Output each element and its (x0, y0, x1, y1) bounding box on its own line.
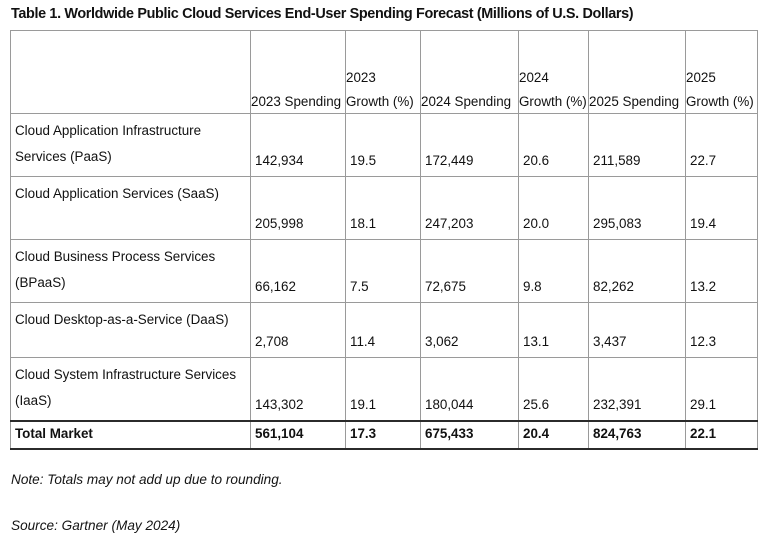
cell-iaas-2024-spending: 180,044 (421, 358, 519, 421)
cell-saas-2025-spending: 295,083 (589, 177, 686, 240)
table-body: Cloud Application Infrastructure Service… (11, 114, 758, 449)
cell-daas-2023-growth: 11.4 (346, 303, 421, 358)
cell-saas-2024-growth: 20.0 (519, 177, 589, 240)
table-row: Cloud System Infrastructure Services (Ia… (11, 358, 758, 421)
cell-bpaas-2024-growth: 9.8 (519, 240, 589, 303)
row-label-daas: Cloud Desktop-as-a-Service (DaaS) (11, 303, 251, 358)
table-footnotes: Note: Totals may not add up due to round… (11, 470, 751, 536)
cell-saas-2024-spending: 247,203 (421, 177, 519, 240)
cell-paas-2023-growth: 19.5 (346, 114, 421, 177)
cell-daas-2025-growth: 12.3 (686, 303, 758, 358)
row-label-iaas: Cloud System Infrastructure Services (Ia… (11, 358, 251, 421)
forecast-table-container: 2023 Spending 2023 Growth (%) 2024 Spend… (10, 30, 757, 450)
cell-paas-2025-spending: 211,589 (589, 114, 686, 177)
column-header-2024-growth: 2024 Growth (%) (519, 31, 589, 114)
forecast-table: 2023 Spending 2023 Growth (%) 2024 Spend… (10, 30, 758, 450)
cell-iaas-2023-growth: 19.1 (346, 358, 421, 421)
cell-bpaas-2024-spending: 72,675 (421, 240, 519, 303)
cell-saas-2025-growth: 19.4 (686, 177, 758, 240)
column-header-2025-spending: 2025 Spending (589, 31, 686, 114)
cell-daas-2023-spending: 2,708 (251, 303, 346, 358)
cell-bpaas-2023-growth: 7.5 (346, 240, 421, 303)
header-row: 2023 Spending 2023 Growth (%) 2024 Spend… (11, 31, 758, 114)
column-header-blank (11, 31, 251, 114)
row-label-paas: Cloud Application Infrastructure Service… (11, 114, 251, 177)
cell-bpaas-2023-spending: 66,162 (251, 240, 346, 303)
cell-daas-2024-growth: 13.1 (519, 303, 589, 358)
table-row: Cloud Business Process Services (BPaaS) … (11, 240, 758, 303)
cell-total-2025-spending: 824,763 (589, 421, 686, 449)
cell-saas-2023-growth: 18.1 (346, 177, 421, 240)
cell-total-2024-growth: 20.4 (519, 421, 589, 449)
cell-iaas-2025-spending: 232,391 (589, 358, 686, 421)
column-header-2024-spending: 2024 Spending (421, 31, 519, 114)
row-label-total-market: Total Market (11, 421, 251, 449)
table-row: Cloud Application Infrastructure Service… (11, 114, 758, 177)
cell-saas-2023-spending: 205,998 (251, 177, 346, 240)
cell-iaas-2025-growth: 29.1 (686, 358, 758, 421)
column-header-2025-growth: 2025 Growth (%) (686, 31, 758, 114)
column-header-2023-spending: 2023 Spending (251, 31, 346, 114)
row-label-bpaas: Cloud Business Process Services (BPaaS) (11, 240, 251, 303)
cell-total-2023-growth: 17.3 (346, 421, 421, 449)
cell-paas-2024-growth: 20.6 (519, 114, 589, 177)
cell-total-2024-spending: 675,433 (421, 421, 519, 449)
cell-total-2023-spending: 561,104 (251, 421, 346, 449)
cell-total-2025-growth: 22.1 (686, 421, 758, 449)
note-text: Note: Totals may not add up due to round… (11, 470, 751, 490)
table-header: 2023 Spending 2023 Growth (%) 2024 Spend… (11, 31, 758, 114)
cell-iaas-2023-spending: 143,302 (251, 358, 346, 421)
page-title: Table 1. Worldwide Public Cloud Services… (11, 3, 761, 25)
cell-daas-2024-spending: 3,062 (421, 303, 519, 358)
cell-daas-2025-spending: 3,437 (589, 303, 686, 358)
table-page: Table 1. Worldwide Public Cloud Services… (0, 0, 768, 557)
cell-bpaas-2025-spending: 82,262 (589, 240, 686, 303)
column-header-2023-growth: 2023 Growth (%) (346, 31, 421, 114)
table-row: Cloud Application Services (SaaS) 205,99… (11, 177, 758, 240)
cell-paas-2024-spending: 172,449 (421, 114, 519, 177)
source-text: Source: Gartner (May 2024) (11, 516, 751, 536)
cell-paas-2025-growth: 22.7 (686, 114, 758, 177)
row-label-saas: Cloud Application Services (SaaS) (11, 177, 251, 240)
cell-paas-2023-spending: 142,934 (251, 114, 346, 177)
total-market-row: Total Market 561,104 17.3 675,433 20.4 8… (11, 421, 758, 449)
table-row: Cloud Desktop-as-a-Service (DaaS) 2,708 … (11, 303, 758, 358)
cell-bpaas-2025-growth: 13.2 (686, 240, 758, 303)
cell-iaas-2024-growth: 25.6 (519, 358, 589, 421)
